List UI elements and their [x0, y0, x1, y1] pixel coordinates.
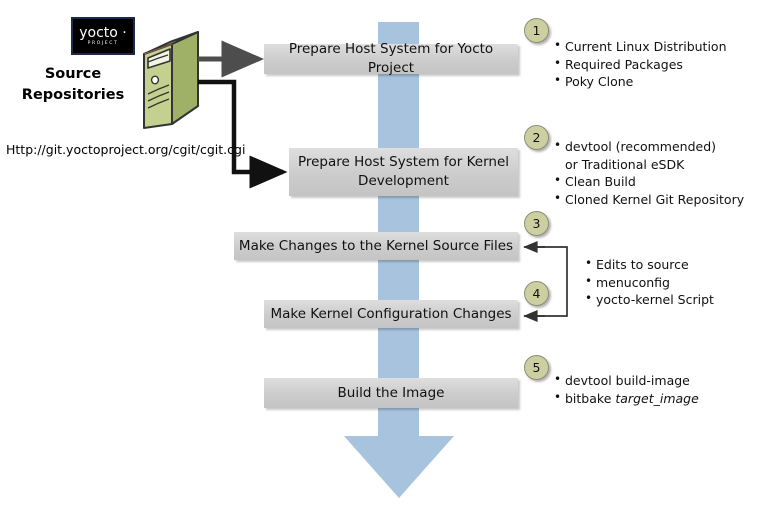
- step-number-4: 4: [524, 281, 549, 306]
- main-flow-arrow-head: [344, 436, 454, 498]
- step-1-bullet-list: Current Linux Distribution Required Pack…: [553, 38, 727, 91]
- process-box-make-kernel-source-changes[interactable]: Make Changes to the Kernel Source Files: [234, 232, 518, 260]
- source-repositories-label: Source Repositories: [12, 64, 134, 106]
- steps-3-4-shared-bullet-list: Edits to source menuconfig yocto-kernel …: [584, 256, 714, 309]
- step-number-5: 5: [524, 355, 549, 380]
- process-box-prepare-host-kernel[interactable]: Prepare Host System for Kernel Developme…: [289, 148, 518, 196]
- list-item: devtool build-image: [553, 372, 699, 390]
- yocto-logo-subtitle: PROJECT: [88, 42, 119, 47]
- bitbake-target-image-arg: target_image: [615, 391, 698, 406]
- yocto-logo-word: yocto ·: [79, 26, 127, 40]
- list-item: Edits to source: [584, 256, 714, 274]
- list-item: Required Packages: [553, 56, 727, 74]
- list-item: devtool (recommended) or Traditional eSD…: [553, 138, 725, 173]
- step-number-3: 3: [524, 211, 549, 236]
- step-number-2: 2: [524, 125, 549, 150]
- list-item: Poky Clone: [553, 73, 727, 91]
- step-2-bullet-list: devtool (recommended) or Traditional eSD…: [553, 138, 744, 208]
- step-number-1: 1: [524, 18, 549, 43]
- diagram-canvas: yocto · PROJECT Source Repositories Http…: [0, 0, 769, 517]
- main-flow-arrow-shaft: [378, 22, 419, 437]
- list-item: Current Linux Distribution: [553, 38, 727, 56]
- list-item: Clean Build: [553, 173, 744, 191]
- source-repositories-url: Http://git.yoctoproject.org/cgit/cgit.cg…: [6, 142, 245, 157]
- list-item: menuconfig: [584, 274, 714, 292]
- server-tower-icon: [128, 28, 200, 132]
- process-box-prepare-host-yocto[interactable]: Prepare Host System for Yocto Project: [264, 44, 518, 74]
- list-item: Cloned Kernel Git Repository: [553, 191, 744, 209]
- list-item: yocto-kernel Script: [584, 291, 714, 309]
- yocto-project-logo: yocto · PROJECT: [71, 17, 135, 55]
- bitbake-command-prefix: bitbake: [565, 391, 615, 406]
- step-5-bullet-list: devtool build-image bitbake target_image: [553, 372, 699, 407]
- process-box-make-kernel-config-changes[interactable]: Make Kernel Configuration Changes: [264, 300, 518, 328]
- list-item: bitbake target_image: [553, 390, 699, 408]
- process-box-build-image[interactable]: Build the Image: [264, 378, 518, 408]
